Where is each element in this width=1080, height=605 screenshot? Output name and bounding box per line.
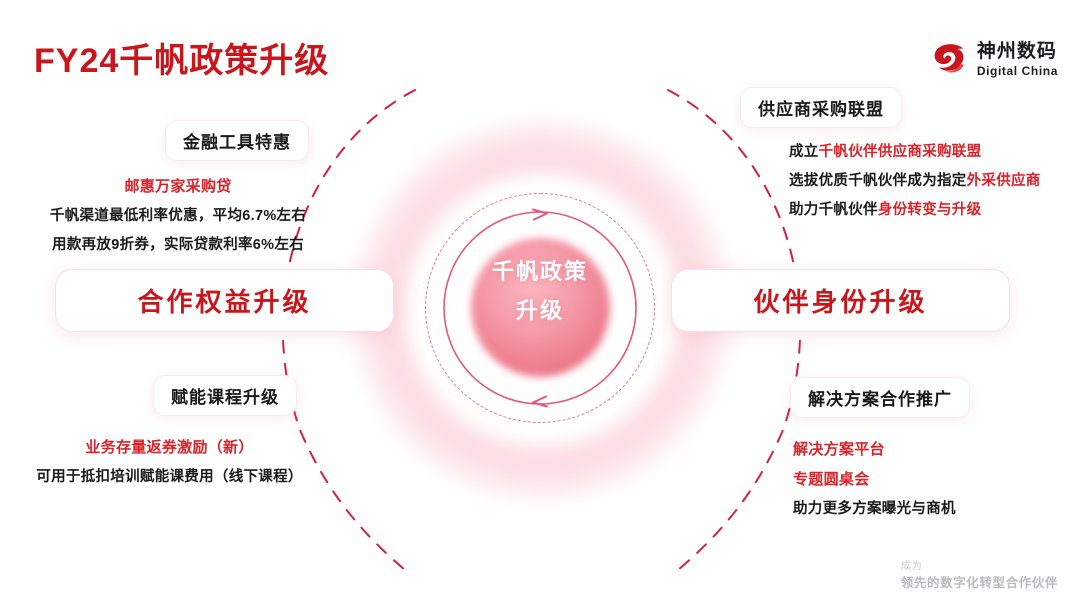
slide-canvas: FY24千帆政策升级 神州数码 Digital China 千帆政策 升级: [0, 0, 1080, 605]
detail-alliance-line2-red: 外采供应商: [967, 173, 1041, 189]
detail-finance: 邮惠万家采购贷 千帆渠道最低利率优惠，平均6.7%左右 用款再放9折券，实际贷款…: [38, 172, 318, 260]
footer-watermark-small: 成为: [901, 559, 1058, 574]
footer-watermark-main: 领先的数字化转型合作伙伴: [901, 574, 1058, 592]
detail-course-line1: 可用于抵扣培训赋能课费用（线下课程）: [22, 463, 317, 492]
detail-solution-line1: 助力更多方案曝光与商机: [793, 495, 956, 524]
brand-name-en: Digital China: [977, 65, 1058, 77]
detail-alliance-line3-black: 助力千帆伙伴: [789, 202, 878, 218]
brand-text: 神州数码 Digital China: [977, 42, 1058, 77]
card-solution[interactable]: 解决方案合作推广: [791, 378, 969, 417]
card-finance-label: 金融工具特惠: [183, 128, 291, 153]
card-solution-label: 解决方案合作推广: [808, 385, 952, 410]
card-finance[interactable]: 金融工具特惠: [166, 121, 308, 160]
detail-alliance-line1-black: 成立: [789, 144, 819, 160]
detail-alliance-line1: 成立千帆伙伴供应商采购联盟: [789, 138, 1041, 167]
detail-alliance-line2: 选拔优质千帆伙伴成为指定外采供应商: [789, 167, 1041, 196]
card-alliance-label: 供应商采购联盟: [758, 95, 884, 120]
center-circle-group: 千帆政策 升级: [425, 193, 655, 423]
detail-alliance-line3: 助力千帆伙伴身份转变与升级: [789, 196, 1041, 225]
detail-alliance-line1-red: 千帆伙伴供应商采购联盟: [819, 144, 982, 160]
detail-alliance-line3-red: 身份转变与升级: [878, 202, 982, 218]
detail-solution-heading1: 解决方案平台: [793, 435, 956, 465]
pillar-left-label: 合作权益升级: [137, 282, 311, 319]
detail-solution: 解决方案平台 专题圆桌会 助力更多方案曝光与商机: [793, 435, 956, 524]
detail-course-heading: 业务存量返券激励（新）: [22, 433, 317, 463]
detail-alliance-line2-black: 选拔优质千帆伙伴成为指定: [789, 173, 967, 189]
footer-watermark: 成为 领先的数字化转型合作伙伴: [901, 559, 1058, 592]
card-course-label: 赋能课程升级: [171, 383, 279, 408]
pillar-right-button[interactable]: 伙伴身份升级: [672, 270, 1009, 331]
digital-china-swirl-icon: [930, 40, 968, 78]
pillar-left-button[interactable]: 合作权益升级: [56, 270, 393, 331]
brand-name-cn: 神州数码: [977, 42, 1058, 61]
detail-finance-heading: 邮惠万家采购贷: [38, 172, 318, 202]
center-label: 千帆政策 升级: [451, 253, 629, 330]
page-title: FY24千帆政策升级: [34, 33, 329, 82]
center-label-line2: 升级: [451, 292, 629, 331]
card-course[interactable]: 赋能课程升级: [154, 376, 296, 415]
brand-logo: 神州数码 Digital China: [930, 40, 1058, 78]
center-label-line1: 千帆政策: [451, 253, 629, 292]
card-alliance[interactable]: 供应商采购联盟: [741, 88, 901, 127]
detail-finance-line2: 用款再放9折券，实际贷款利率6%左右: [38, 231, 318, 260]
detail-finance-line1: 千帆渠道最低利率优惠，平均6.7%左右: [38, 202, 318, 231]
pillar-right-label: 伙伴身份升级: [753, 282, 927, 319]
detail-course: 业务存量返券激励（新） 可用于抵扣培训赋能课费用（线下课程）: [22, 433, 317, 492]
detail-alliance: 成立千帆伙伴供应商采购联盟 选拔优质千帆伙伴成为指定外采供应商 助力千帆伙伴身份…: [789, 138, 1041, 225]
detail-solution-heading2: 专题圆桌会: [793, 465, 956, 495]
